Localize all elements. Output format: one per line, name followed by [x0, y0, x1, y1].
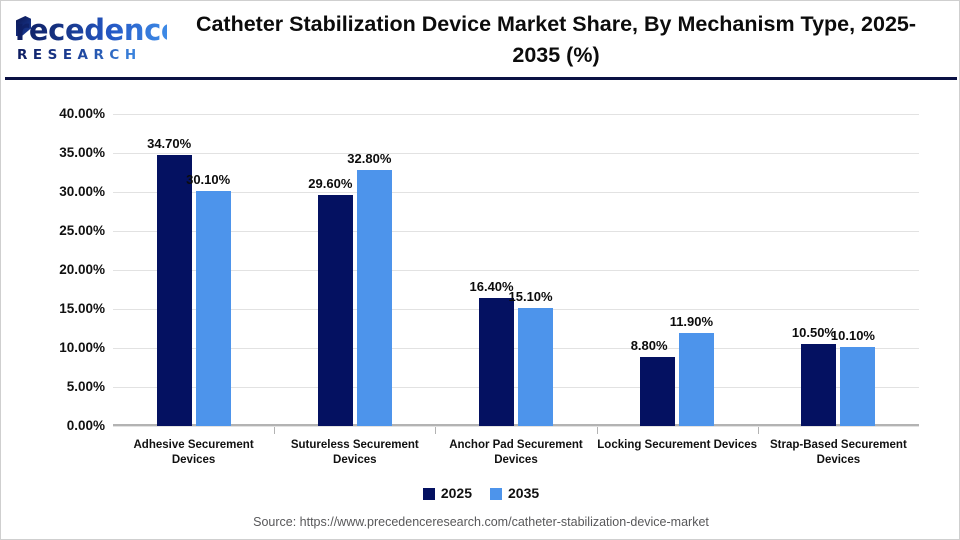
- bar-2025-2[interactable]: [479, 298, 514, 426]
- y-axis-tick-label: 20.00%: [9, 263, 105, 277]
- y-axis-tick-label: 15.00%: [9, 302, 105, 316]
- legend-swatch-icon: [490, 488, 502, 500]
- bar-value-label: 16.40%: [470, 279, 514, 294]
- logo-wordmark: recedence: [15, 13, 167, 47]
- bar-2035-4[interactable]: [840, 347, 875, 426]
- legend-label: 2025: [441, 486, 472, 501]
- bar-2025-0[interactable]: [157, 155, 192, 426]
- bar-2035-3[interactable]: [679, 333, 714, 426]
- bar-2035-0[interactable]: [196, 191, 231, 426]
- bar-value-label: 11.90%: [670, 314, 713, 329]
- x-axis-tick: [597, 427, 598, 434]
- gridline: [113, 192, 919, 193]
- x-axis-category-label: Strap-Based Securement Devices: [758, 438, 919, 468]
- bar-2025-4[interactable]: [801, 344, 836, 426]
- bar-value-label: 30.10%: [186, 172, 230, 187]
- x-axis-tick: [435, 427, 436, 434]
- bar-value-label: 32.80%: [347, 151, 391, 166]
- y-axis: 40.00%35.00%30.00%25.00%20.00%15.00%10.0…: [9, 114, 105, 426]
- logo-subtitle: RESEARCH: [17, 47, 142, 63]
- legend-item-2035[interactable]: 2035: [490, 486, 539, 501]
- y-axis-tick-label: 30.00%: [9, 185, 105, 199]
- x-axis-tick: [758, 427, 759, 434]
- bar-value-label: 10.10%: [831, 328, 875, 343]
- precedence-research-logo: recedence RESEARCH: [15, 13, 167, 67]
- legend-swatch-icon: [423, 488, 435, 500]
- source-caption: Source: https://www.precedenceresearch.c…: [1, 514, 960, 530]
- plot-wrapper: 40.00%35.00%30.00%25.00%20.00%15.00%10.0…: [1, 80, 960, 540]
- x-axis-category-label: Anchor Pad Securement Devices: [435, 438, 596, 468]
- chart-header: recedence RESEARCH Catheter Stabilizatio…: [1, 1, 960, 79]
- y-axis-tick-label: 0.00%: [9, 419, 105, 433]
- y-axis-tick-label: 35.00%: [9, 146, 105, 160]
- gridline: [113, 309, 919, 310]
- y-axis-tick-label: 5.00%: [9, 380, 105, 394]
- x-axis-tick: [274, 427, 275, 434]
- bar-2025-3[interactable]: [640, 357, 675, 426]
- y-axis-tick-label: 25.00%: [9, 224, 105, 238]
- bar-value-label: 8.80%: [631, 338, 668, 353]
- bar-value-label: 34.70%: [147, 136, 191, 151]
- bar-2035-2[interactable]: [518, 308, 553, 426]
- plot-area: 34.70%30.10%29.60%32.80%16.40%15.10%8.80…: [113, 114, 919, 426]
- bar-2025-1[interactable]: [318, 195, 353, 426]
- chart-page: recedence RESEARCH Catheter Stabilizatio…: [0, 0, 960, 540]
- gridline: [113, 387, 919, 388]
- bar-value-label: 10.50%: [792, 325, 836, 340]
- gridline: [113, 153, 919, 154]
- page-title: Catheter Stabilization Device Market Sha…: [186, 9, 926, 71]
- bar-value-label: 29.60%: [308, 176, 352, 191]
- gridline: [113, 426, 919, 427]
- x-axis-category-label: Sutureless Securement Devices: [274, 438, 435, 468]
- gridline: [113, 114, 919, 115]
- bar-value-label: 15.10%: [509, 289, 553, 304]
- gridline: [113, 348, 919, 349]
- gridline: [113, 270, 919, 271]
- gridline: [113, 231, 919, 232]
- bar-2035-1[interactable]: [357, 170, 392, 426]
- x-axis-category-label: Adhesive Securement Devices: [113, 438, 274, 468]
- y-axis-tick-label: 10.00%: [9, 341, 105, 355]
- x-axis-category-label: Locking Securement Devices: [597, 438, 758, 453]
- chart-legend: 20252035: [1, 486, 960, 501]
- legend-item-2025[interactable]: 2025: [423, 486, 472, 501]
- y-axis-tick-label: 40.00%: [9, 107, 105, 121]
- legend-label: 2035: [508, 486, 539, 501]
